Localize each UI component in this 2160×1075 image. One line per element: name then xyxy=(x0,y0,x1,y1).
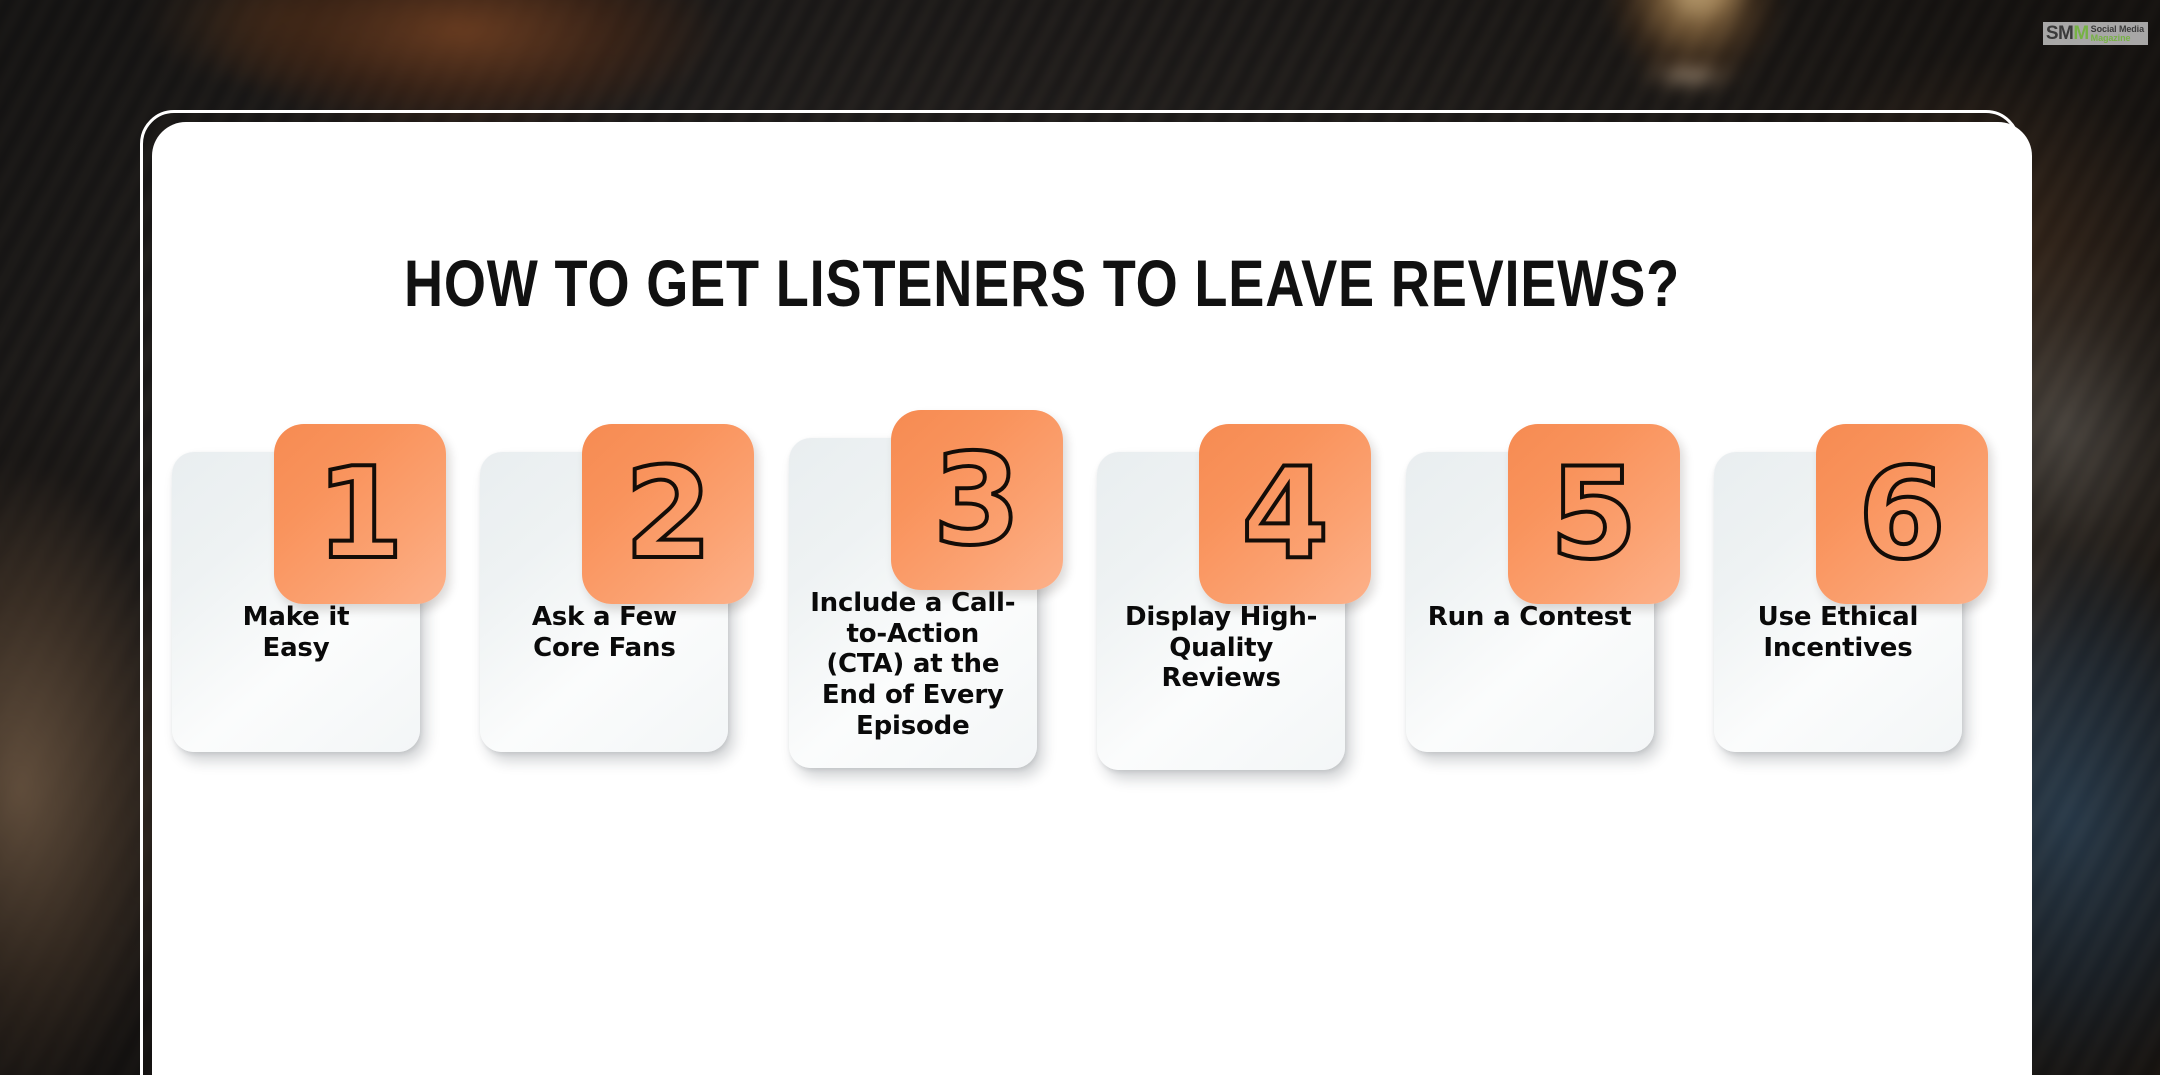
card-item: 6 Use Ethical Incentives xyxy=(1714,452,1962,752)
badge-number-text: 4 xyxy=(1241,451,1329,577)
logo-wordmark-line2: Magazine xyxy=(2091,34,2144,43)
logo-monogram-m: M xyxy=(2073,24,2088,43)
step-card-6[interactable]: 6 Use Ethical Incentives xyxy=(1714,452,1962,752)
step-card-3[interactable]: 3 Include a Call- to-Action (CTA) at the… xyxy=(789,438,1037,768)
content-panel: HOW TO GET LISTENERS TO LEAVE REVIEWS? 1… xyxy=(152,122,2032,1075)
card-item: 5 Run a Contest xyxy=(1406,452,1654,752)
number-badge-4: 4 xyxy=(1199,424,1371,604)
card-item: 3 Include a Call- to-Action (CTA) at the… xyxy=(789,452,1037,768)
step-card-2[interactable]: 2 Ask a Few Core Fans xyxy=(480,452,728,752)
badge-number-text: 3 xyxy=(933,437,1021,563)
step-card-5[interactable]: 5 Run a Contest xyxy=(1406,452,1654,752)
number-badge-6: 6 xyxy=(1816,424,1988,604)
logo-monogram: SMM xyxy=(2046,24,2089,43)
card-item: 2 Ask a Few Core Fans xyxy=(480,452,728,752)
smm-watermark-logo: SMM Social Media Magazine xyxy=(2043,22,2148,45)
number-badge-2: 2 xyxy=(582,424,754,604)
step-label-2: Ask a Few Core Fans xyxy=(498,602,710,663)
card-item: 1 Make it Easy xyxy=(172,452,420,752)
logo-wordmark: Social Media Magazine xyxy=(2091,24,2144,43)
step-label-6: Use Ethical Incentives xyxy=(1732,602,1944,663)
badge-number-text: 6 xyxy=(1858,451,1946,577)
step-label-1: Make it Easy xyxy=(190,602,402,663)
badge-number-text: 2 xyxy=(625,451,713,577)
step-card-4[interactable]: 4 Display High- Quality Reviews xyxy=(1097,452,1345,770)
badge-number-text: 1 xyxy=(316,451,404,577)
page-title: HOW TO GET LISTENERS TO LEAVE REVIEWS? xyxy=(312,250,1772,316)
infographic-stage: SMM Social Media Magazine HOW TO GET LIS… xyxy=(0,0,2160,1075)
step-card-1[interactable]: 1 Make it Easy xyxy=(172,452,420,752)
number-badge-1: 1 xyxy=(274,424,446,604)
step-label-5: Run a Contest xyxy=(1424,602,1636,633)
badge-number-text: 5 xyxy=(1550,451,1638,577)
step-label-4: Display High- Quality Reviews xyxy=(1115,602,1327,694)
logo-monogram-sm: SM xyxy=(2046,24,2074,43)
card-row: 1 Make it Easy 2 Ask a Few Core Fans 3 xyxy=(172,452,1962,770)
step-label-3: Include a Call- to-Action (CTA) at the E… xyxy=(807,588,1019,741)
card-item: 4 Display High- Quality Reviews xyxy=(1097,452,1345,770)
number-badge-3: 3 xyxy=(891,410,1063,590)
number-badge-5: 5 xyxy=(1508,424,1680,604)
